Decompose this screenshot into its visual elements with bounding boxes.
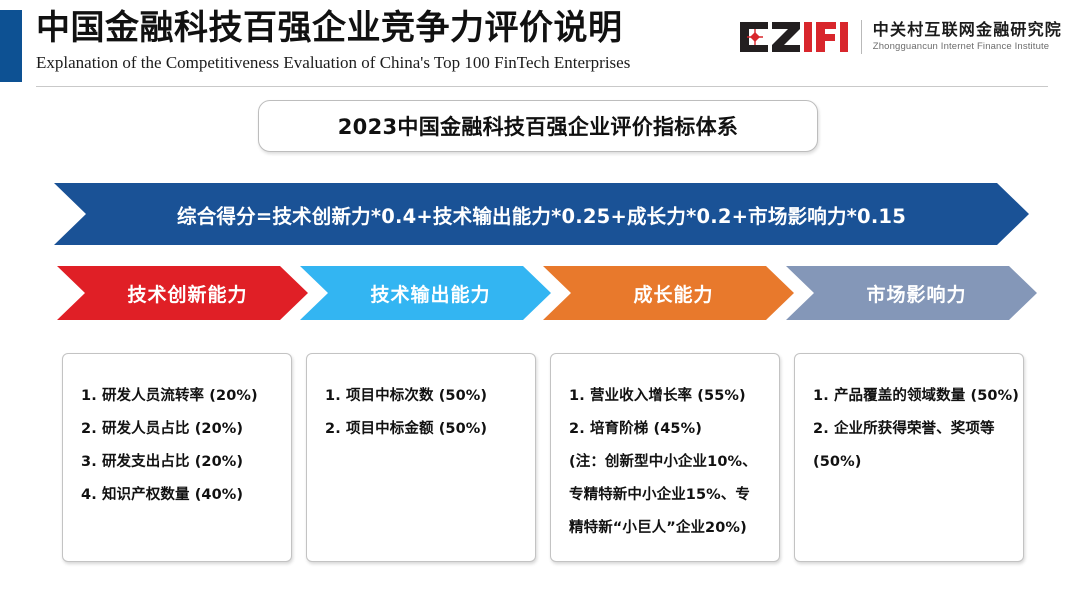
page-subtitle-en: Explanation of the Competitiveness Evalu… bbox=[36, 51, 630, 75]
indicator-item: 1. 产品覆盖的领域数量 (50%) bbox=[813, 380, 1007, 413]
dimension-chevron-tech-output[interactable]: 技术输出能力 bbox=[300, 266, 551, 320]
indicator-card-market-influence: 1. 产品覆盖的领域数量 (50%) 2. 企业所获得荣誉、奖项等 (50%) bbox=[794, 353, 1024, 562]
index-system-title-box: 2023中国金融科技百强企业评价指标体系 bbox=[258, 100, 818, 152]
header-divider bbox=[36, 86, 1048, 87]
indicator-card-tech-innovation: 1. 研发人员流转率 (20%) 2. 研发人员占比 (20%) 3. 研发支出… bbox=[62, 353, 292, 562]
dimension-chevron-growth[interactable]: 成长能力 bbox=[543, 266, 794, 320]
indicator-item: 3. 研发支出占比 (20%) bbox=[81, 446, 275, 479]
dimension-label: 技术创新能力 bbox=[117, 280, 247, 307]
indicator-cards: 1. 研发人员流转率 (20%) 2. 研发人员占比 (20%) 3. 研发支出… bbox=[62, 353, 1024, 562]
dimension-label: 成长能力 bbox=[623, 280, 713, 307]
logo-wordmark: 中关村互联网金融研究院 Zhongguancun Internet Financ… bbox=[873, 20, 1062, 54]
indicator-item: 2. 企业所获得荣誉、奖项等 (50%) bbox=[813, 413, 1007, 479]
index-system-title: 2023中国金融科技百强企业评价指标体系 bbox=[338, 111, 738, 141]
logo-name-cn: 中关村互联网金融研究院 bbox=[873, 20, 1062, 40]
indicator-item: 2. 研发人员占比 (20%) bbox=[81, 413, 275, 446]
dimension-chevron-market-influence[interactable]: 市场影响力 bbox=[786, 266, 1037, 320]
institute-logo: 中关村互联网金融研究院 Zhongguancun Internet Financ… bbox=[738, 12, 1062, 62]
score-formula-text: 综合得分=技术创新力*0.4+技术输出能力*0.25+成长力*0.2+市场影响力… bbox=[177, 200, 906, 229]
score-formula-banner: 综合得分=技术创新力*0.4+技术输出能力*0.25+成长力*0.2+市场影响力… bbox=[54, 183, 1029, 245]
indicator-note: (注：创新型中小企业10%、专精特新中小企业15%、专精特新“小巨人”企业20%… bbox=[569, 446, 763, 545]
indicator-item: 4. 知识产权数量 (40%) bbox=[81, 479, 275, 512]
indicator-item: 2. 项目中标金额 (50%) bbox=[325, 413, 519, 446]
dimension-label: 市场影响力 bbox=[856, 280, 966, 307]
slide-root: 中国金融科技百强企业竞争力评价说明 Explanation of the Com… bbox=[0, 0, 1080, 608]
indicator-card-tech-output: 1. 项目中标次数 (50%) 2. 项目中标金额 (50%) bbox=[306, 353, 536, 562]
header-accent-bar bbox=[0, 10, 22, 82]
dimension-chevron-tech-innovation[interactable]: 技术创新能力 bbox=[57, 266, 308, 320]
page-title: 中国金融科技百强企业竞争力评价说明 bbox=[36, 6, 630, 50]
czifi-logomark-icon bbox=[738, 20, 850, 54]
indicator-item: 1. 营业收入增长率 (55%) bbox=[569, 380, 763, 413]
logo-divider bbox=[861, 20, 862, 54]
indicator-item: 2. 培育阶梯 (45%) bbox=[569, 413, 763, 446]
dimension-label: 技术输出能力 bbox=[360, 280, 490, 307]
slide-header: 中国金融科技百强企业竞争力评价说明 Explanation of the Com… bbox=[0, 0, 1080, 88]
indicator-item: 1. 研发人员流转率 (20%) bbox=[81, 380, 275, 413]
dimension-chevron-row: 技术创新能力 技术输出能力 成长能力 市场影响力 bbox=[57, 266, 1029, 320]
logo-name-en: Zhongguancun Internet Finance Institute bbox=[873, 40, 1062, 54]
indicator-card-growth: 1. 营业收入增长率 (55%) 2. 培育阶梯 (45%) (注：创新型中小企… bbox=[550, 353, 780, 562]
header-text-block: 中国金融科技百强企业竞争力评价说明 Explanation of the Com… bbox=[36, 6, 630, 75]
indicator-item: 1. 项目中标次数 (50%) bbox=[325, 380, 519, 413]
